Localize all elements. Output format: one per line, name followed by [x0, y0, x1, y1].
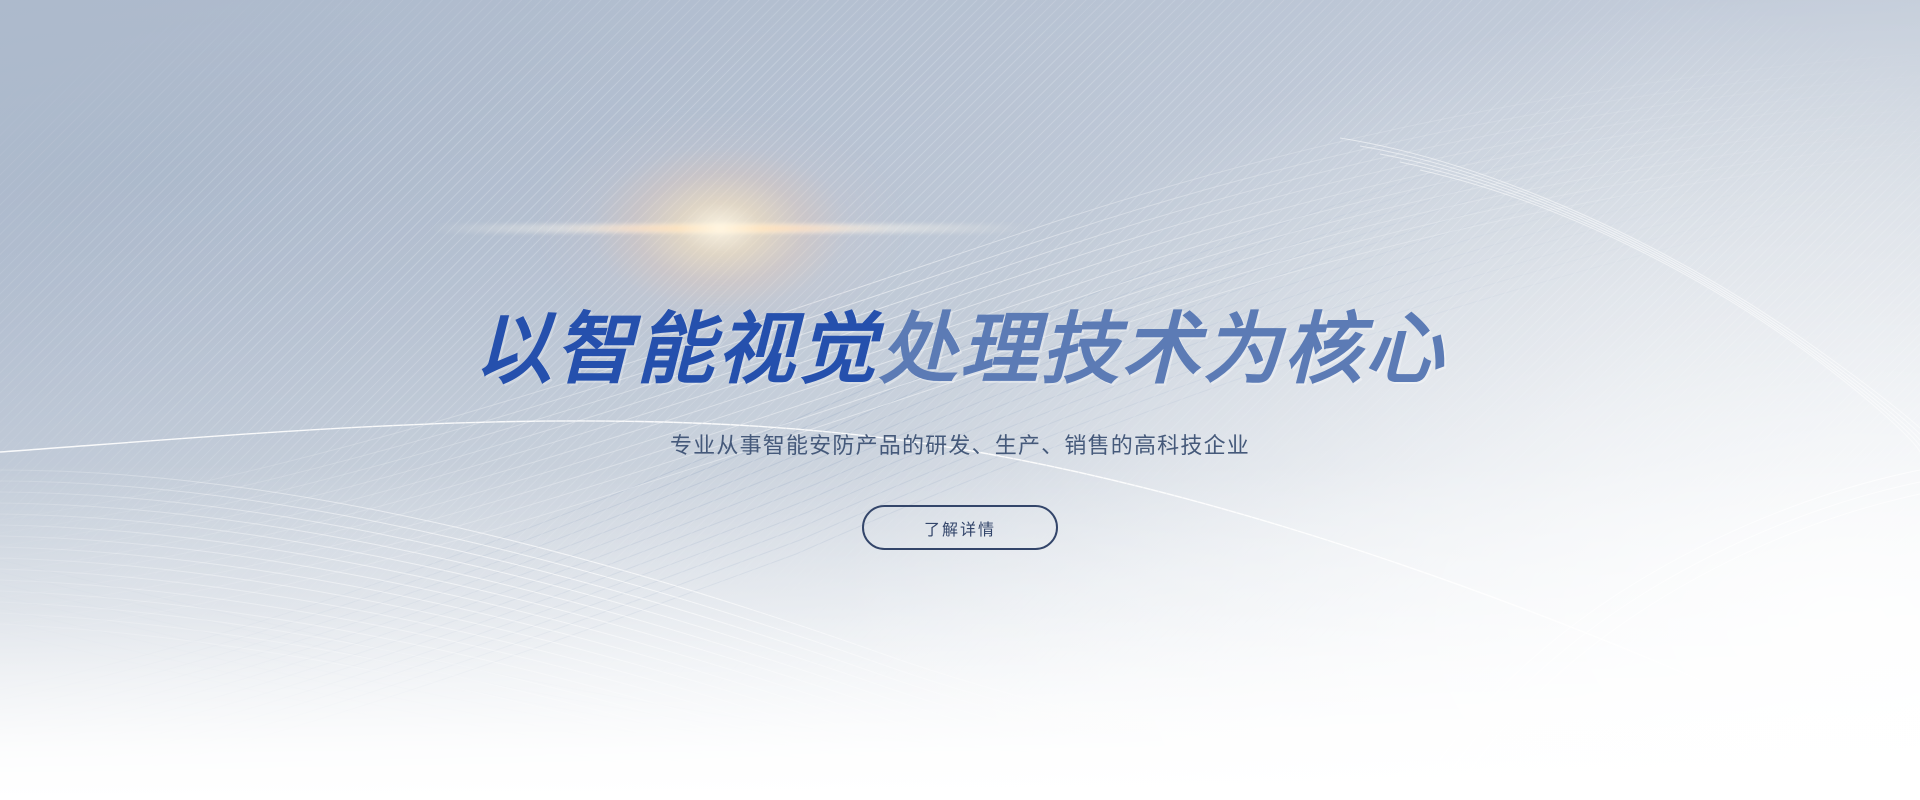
- learn-more-button[interactable]: 了解详情: [862, 505, 1058, 550]
- cta-container: 了解详情: [0, 505, 1920, 550]
- headline-segment-primary: 以智能视觉: [474, 305, 879, 393]
- hero-banner: 以智能视觉处理技术为核心 专业从事智能安防产品的研发、生产、销售的高科技企业 了…: [0, 0, 1920, 800]
- headline-segment-secondary: 处理技术为核心: [879, 305, 1446, 393]
- page-title: 以智能视觉处理技术为核心: [0, 310, 1920, 388]
- page-subtitle: 专业从事智能安防产品的研发、生产、销售的高科技企业: [0, 429, 1920, 462]
- banner-content: 以智能视觉处理技术为核心 专业从事智能安防产品的研发、生产、销售的高科技企业 了…: [0, 0, 1920, 800]
